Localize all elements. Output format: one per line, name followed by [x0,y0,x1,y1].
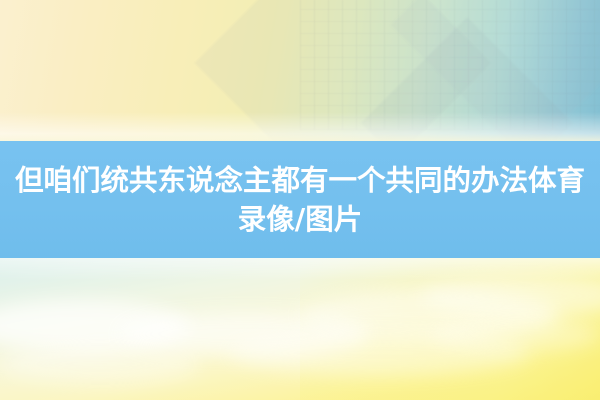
caption-text: 但咱们统共东说念主都有一个共同的办法体育录像/图片 [10,161,590,239]
image-banner-stage: 但咱们统共东说念主都有一个共同的办法体育录像/图片 [0,0,600,400]
upper-haze-overlay [0,112,600,141]
lower-haze-overlay [0,258,600,280]
cloud-shape [430,318,600,352]
upper-sky-gradient [0,0,600,141]
caption-banner: 但咱们统共东说念主都有一个共同的办法体育录像/图片 [0,141,600,258]
cloud-shape [0,344,200,384]
